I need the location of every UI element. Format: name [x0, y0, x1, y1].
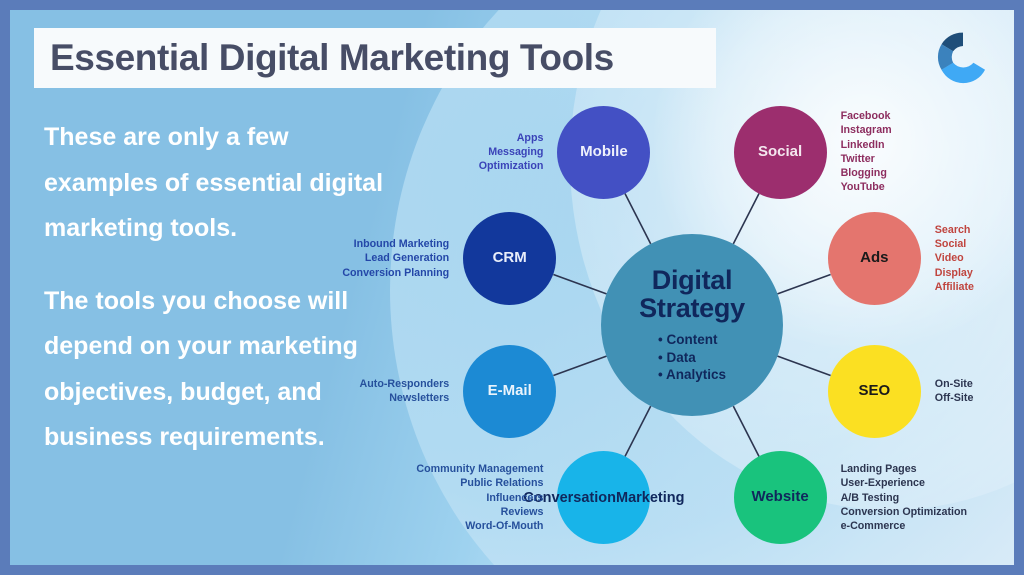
callout-item: On-Site: [935, 377, 974, 391]
callout-item: Inbound Marketing: [342, 237, 449, 251]
callout-item: Apps: [479, 131, 544, 145]
node-social[interactable]: Social: [734, 106, 827, 199]
callout-item: A/B Testing: [841, 491, 967, 505]
node-email[interactable]: E-Mail: [463, 345, 556, 438]
callout-item: LinkedIn: [841, 138, 892, 152]
callout-item: Word-Of-Mouth: [416, 519, 543, 533]
callout-item: Blogging: [841, 166, 892, 180]
page-title: Essential Digital Marketing Tools: [50, 37, 614, 79]
node-label: Website: [751, 489, 808, 506]
hub-digital-strategy[interactable]: DigitalStrategy• Content• Data• Analytic…: [601, 234, 783, 416]
hub-title-line-1: Digital: [652, 265, 732, 295]
hub-bullet: • Content: [658, 331, 726, 349]
node-label: E-Mail: [488, 383, 532, 400]
callout-item: e-Commerce: [841, 519, 967, 533]
slide: Essential Digital Marketing Tools These …: [0, 0, 1024, 575]
callout-item: Instagram: [841, 123, 892, 137]
callout-mobile: AppsMessagingOptimization: [479, 131, 544, 174]
callout-item: Affiliate: [935, 280, 974, 294]
intro-paragraph-1: These are only a few examples of essenti…: [44, 115, 404, 252]
node-label: Social: [758, 144, 802, 161]
callout-item: Facebook: [841, 109, 892, 123]
intro-paragraph-2: The tools you choose will depend on your…: [44, 279, 404, 461]
slide-canvas: Essential Digital Marketing Tools These …: [10, 10, 1014, 565]
node-label: CRM: [493, 250, 527, 267]
callout-seo: On-SiteOff-Site: [935, 377, 974, 405]
node-ads[interactable]: Ads: [828, 212, 921, 305]
callout-item: User-Experience: [841, 476, 967, 490]
node-label: Mobile: [580, 144, 628, 161]
callout-social: FacebookInstagramLinkedInTwitterBlogging…: [841, 109, 892, 194]
callout-item: Social: [935, 237, 974, 251]
hub-bullet: • Data: [658, 349, 726, 367]
callout-item: Off-Site: [935, 391, 974, 405]
callout-conversation-marketing: Community ManagementPublic RelationsInfl…: [416, 462, 543, 533]
callout-item: Optimization: [479, 159, 544, 173]
node-label: Ads: [860, 250, 888, 267]
hub-title: DigitalStrategy: [639, 266, 745, 322]
callout-item: Video: [935, 251, 974, 265]
callout-item: Community Management: [416, 462, 543, 476]
callout-item: YouTube: [841, 180, 892, 194]
callout-item: Search: [935, 223, 974, 237]
callout-ads: SearchSocialVideoDisplayAffiliate: [935, 223, 974, 294]
callout-item: Public Relations: [416, 476, 543, 490]
callout-item: Reviews: [416, 505, 543, 519]
callout-item: Conversion Planning: [342, 266, 449, 280]
node-seo[interactable]: SEO: [828, 345, 921, 438]
node-crm[interactable]: CRM: [463, 212, 556, 305]
callout-item: Influencers: [416, 491, 543, 505]
node-website[interactable]: Website: [734, 451, 827, 544]
callout-item: Conversion Optimization: [841, 505, 967, 519]
hub-bullet-list: • Content• Data• Analytics: [658, 331, 726, 384]
intro-copy: These are only a few examples of essenti…: [44, 115, 404, 461]
node-label: Marketing: [616, 490, 685, 506]
callout-website: Landing PagesUser-ExperienceA/B TestingC…: [841, 462, 967, 533]
hub-title-line-2: Strategy: [639, 293, 745, 323]
callout-email: Auto-RespondersNewsletters: [360, 377, 450, 405]
node-label: SEO: [858, 383, 890, 400]
node-mobile[interactable]: Mobile: [557, 106, 650, 199]
title-banner: Essential Digital Marketing Tools: [34, 28, 716, 88]
callout-crm: Inbound MarketingLead GenerationConversi…: [342, 237, 449, 280]
callout-item: Landing Pages: [841, 462, 967, 476]
callout-item: Messaging: [479, 145, 544, 159]
hub-bullet: • Analytics: [658, 366, 726, 384]
callout-item: Newsletters: [360, 391, 450, 405]
digital-strategy-diagram: MobileAppsMessagingOptimizationSocialFac…: [370, 90, 1014, 560]
callout-item: Twitter: [841, 152, 892, 166]
callout-item: Lead Generation: [342, 251, 449, 265]
callout-item: Display: [935, 266, 974, 280]
callout-item: Auto-Responders: [360, 377, 450, 391]
letter-c-logo: [934, 28, 992, 86]
